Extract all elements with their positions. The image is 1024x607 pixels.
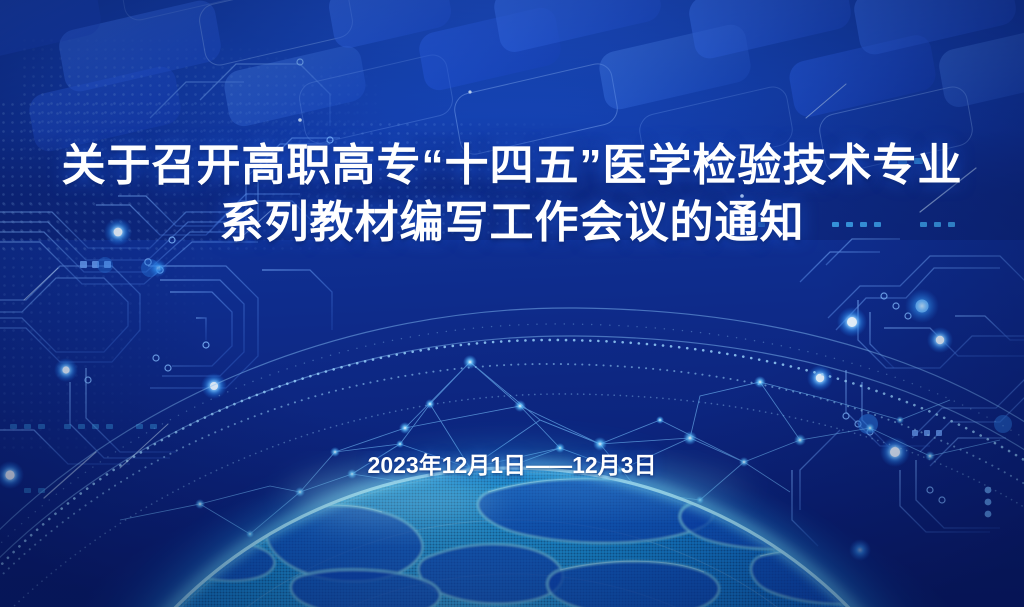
title-line-1: 关于召开高职高专“十四五”医学检验技术专业 [0,137,1024,194]
conference-banner-poster: 关于召开高职高专“十四五”医学检验技术专业 系列教材编写工作会议的通知 2023… [0,0,1024,607]
poster-date: 2023年12月1日——12月3日 [0,446,1024,480]
poster-title: 关于召开高职高专“十四五”医学检验技术专业 系列教材编写工作会议的通知 [0,137,1024,251]
vignette-overlay [0,0,1024,607]
date-range-text: 2023年12月1日——12月3日 [0,446,1024,480]
title-line-2: 系列教材编写工作会议的通知 [0,194,1024,251]
